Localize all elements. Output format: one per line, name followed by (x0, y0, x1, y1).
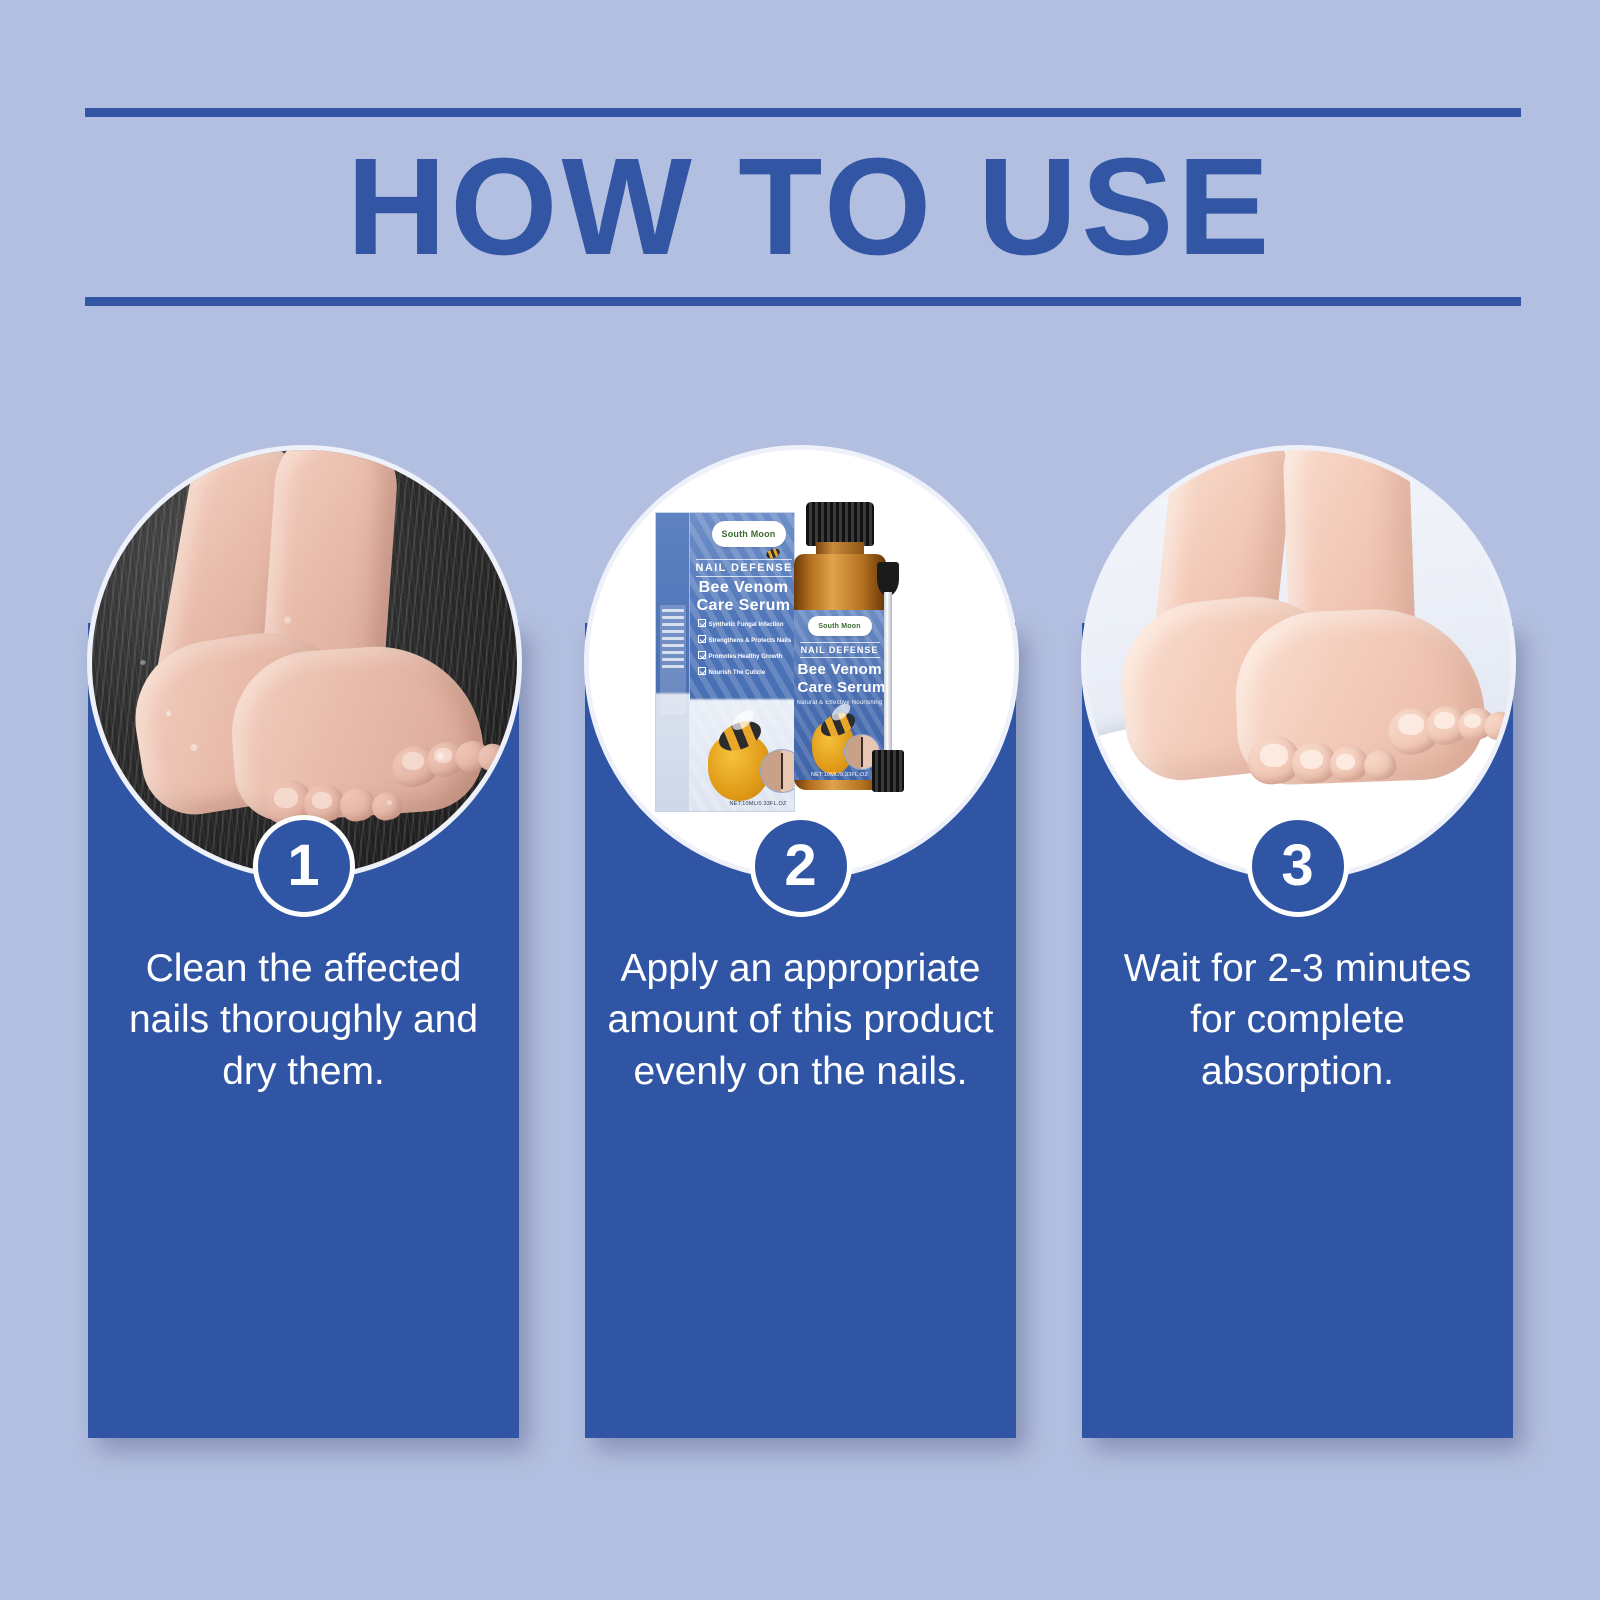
step-card-1: 1 Clean the affected nails thoroughly an… (88, 623, 519, 1438)
step-1-text: Clean the affected nails thoroughly and … (106, 943, 501, 1097)
box-feature-item: Promotes Healthy Growth (698, 651, 783, 660)
box-feature-item: Synthetic Fungal Infection (698, 619, 784, 628)
toenail-shape (1260, 744, 1288, 767)
box-side-panel (656, 513, 690, 811)
brush-applicator (877, 562, 899, 792)
brush-head (877, 562, 899, 596)
box-brand-badge: South Moon (712, 521, 786, 547)
serum-bottle: South Moon NAIL DEFENSE Bee Venom Care S… (787, 502, 893, 802)
box-feature-label: Strengthens & Protects Nails (709, 638, 792, 644)
box-category-label: NAIL DEFENSE (696, 559, 792, 577)
box-brand-label: South Moon (722, 529, 776, 539)
bottle-category-label: NAIL DEFENSE (800, 642, 880, 658)
box-side-copy (660, 605, 686, 715)
step-2-badge: 2 (750, 815, 852, 917)
brush-stem (884, 592, 892, 760)
toenail-shape (1398, 714, 1424, 735)
step-3-text: Wait for 2-3 minutes for complete absorp… (1100, 943, 1495, 1097)
step-3-badge: 3 (1247, 815, 1349, 917)
check-icon (698, 667, 706, 675)
box-feature-item: Nourish The Cuticle (698, 667, 766, 676)
bottle-product-name-line1: Bee Venom (798, 662, 882, 679)
step-1-badge: 1 (253, 815, 355, 917)
bottle-cap (806, 502, 874, 546)
check-icon (698, 619, 706, 627)
wet-feet-illustration (92, 450, 517, 875)
bottle-brand-label: South Moon (818, 623, 860, 630)
toenail-shape (1336, 754, 1355, 770)
brush-cap (872, 750, 904, 792)
check-icon (698, 635, 706, 643)
step-2-text: Apply an appropriate amount of this prod… (603, 943, 998, 1097)
box-net-weight: NET:10ML/0.33FL.OZ (730, 801, 787, 807)
step-card-3: 3 Wait for 2-3 minutes for complete abso… (1082, 623, 1513, 1438)
box-feature-item: Strengthens & Protects Nails (698, 635, 792, 644)
clean-feet-illustration (1086, 450, 1511, 875)
product-illustration: South Moon NAIL DEFENSE Bee Venom Care S… (589, 450, 1014, 875)
bottle-brand-badge: South Moon (808, 616, 872, 636)
toenail-shape (1464, 714, 1481, 728)
box-feature-label: Nourish The Cuticle (709, 670, 766, 676)
box-product-name-line1: Bee Venom (696, 579, 792, 597)
toenail-shape (1434, 712, 1455, 729)
steps-container: 1 Clean the affected nails thoroughly an… (0, 0, 1600, 1600)
check-icon (698, 651, 706, 659)
box-feature-label: Synthetic Fungal Infection (709, 622, 784, 628)
water-droplets (92, 450, 517, 875)
bottle-product-name-line2: Care Serum (798, 680, 882, 697)
toenail-shape (1300, 750, 1323, 769)
box-product-name-line2: Care Serum (696, 597, 792, 615)
step-card-2: South Moon NAIL DEFENSE Bee Venom Care S… (585, 623, 1016, 1438)
product-box: South Moon NAIL DEFENSE Bee Venom Care S… (655, 512, 795, 812)
box-feature-label: Promotes Healthy Growth (709, 654, 783, 660)
